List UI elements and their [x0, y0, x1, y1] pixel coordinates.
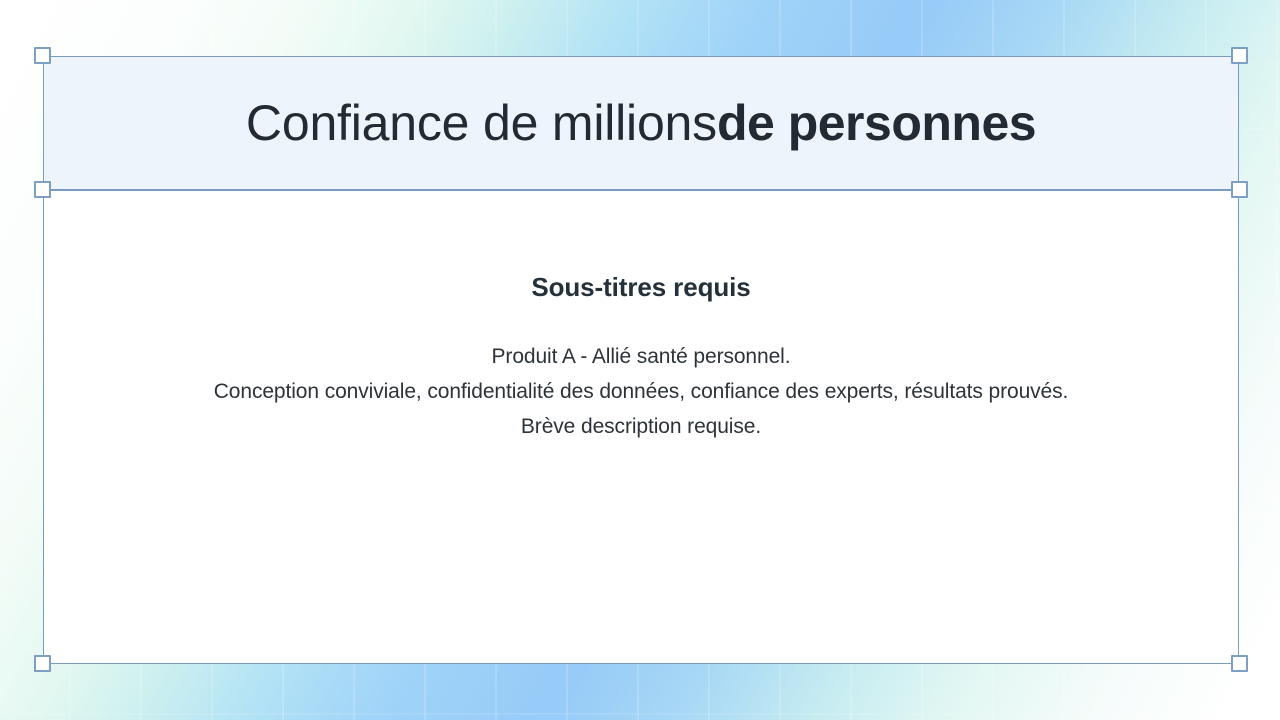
resize-handle-bottom-right[interactable] — [1231, 655, 1248, 672]
resize-handle-middle-right[interactable] — [1231, 181, 1248, 198]
title-regular-segment: Confiance de millions — [246, 95, 717, 151]
subtitle-heading: Sous-titres requis — [44, 272, 1238, 303]
resize-handle-top-left[interactable] — [34, 47, 51, 64]
title-text-block[interactable]: Confiance de millionsde personnes — [43, 56, 1239, 190]
body-content: Sous-titres requis Produit A - Allié san… — [44, 191, 1238, 444]
body-line-1: Produit A - Allié santé personnel. — [44, 339, 1238, 374]
title-bold-segment: de personnes — [717, 95, 1036, 151]
body-line-3: Brève description requise. — [44, 409, 1238, 444]
resize-handle-middle-left[interactable] — [34, 181, 51, 198]
slide-selection-frame[interactable]: Confiance de millionsde personnes Sous-t… — [43, 56, 1239, 664]
body-text-block[interactable]: Sous-titres requis Produit A - Allié san… — [43, 190, 1239, 664]
resize-handle-top-right[interactable] — [1231, 47, 1248, 64]
slide-title: Confiance de millionsde personnes — [246, 96, 1036, 151]
body-line-2: Conception conviviale, confidentialité d… — [44, 374, 1238, 409]
resize-handle-bottom-left[interactable] — [34, 655, 51, 672]
